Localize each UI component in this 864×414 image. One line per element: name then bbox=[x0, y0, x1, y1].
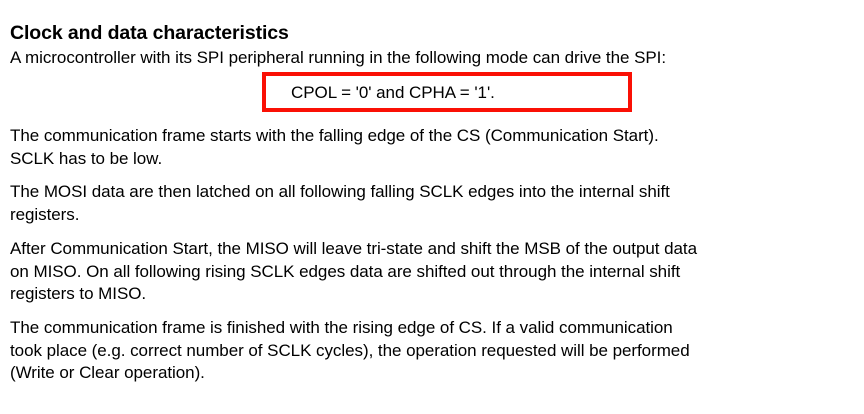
paragraph-line: SCLK has to be low. bbox=[10, 148, 830, 171]
paragraph-line: A microcontroller with its SPI periphera… bbox=[10, 47, 830, 70]
paragraph-intro: A microcontroller with its SPI periphera… bbox=[10, 47, 830, 70]
paragraph-mosi-latching: The MOSI data are then latched on all fo… bbox=[10, 181, 830, 226]
paragraph-line: (Write or Clear operation). bbox=[10, 362, 830, 385]
paragraph-line: The communication frame is finished with… bbox=[10, 317, 830, 340]
paragraph-communication-frame-start: The communication frame starts with the … bbox=[10, 125, 830, 170]
paragraph-line: on MISO. On all following rising SCLK ed… bbox=[10, 261, 830, 284]
paragraph-communication-frame-end: The communication frame is finished with… bbox=[10, 317, 830, 385]
page-title: Clock and data characteristics bbox=[10, 21, 289, 45]
paragraph-line: registers. bbox=[10, 204, 830, 227]
paragraph-miso-shifting: After Communication Start, the MISO will… bbox=[10, 238, 830, 306]
document-page: Clock and data characteristics A microco… bbox=[0, 0, 864, 414]
paragraph-line: registers to MISO. bbox=[10, 283, 830, 306]
paragraph-line: The MOSI data are then latched on all fo… bbox=[10, 181, 830, 204]
callout-spi-mode-text: CPOL = '0' and CPHA = '1'. bbox=[291, 82, 495, 104]
paragraph-line: took place (e.g. correct number of SCLK … bbox=[10, 340, 830, 363]
paragraph-line: The communication frame starts with the … bbox=[10, 125, 830, 148]
paragraph-line: After Communication Start, the MISO will… bbox=[10, 238, 830, 261]
